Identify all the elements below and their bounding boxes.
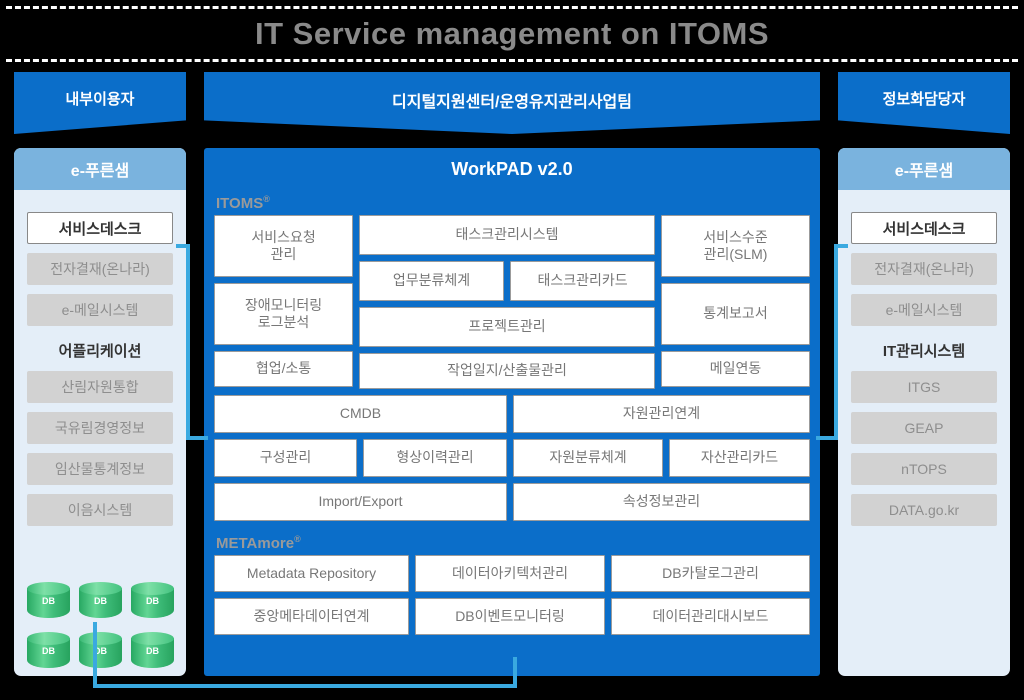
right-item-email-system[interactable]: e-메일시스템 (851, 294, 997, 326)
itoms-upper-block: 서비스요청 관리 장애모니터링 로그분석 협업/소통 태스크관리시스템 업무분류… (214, 215, 810, 389)
metamore-row-2: 중앙메타데이터연계 DB이벤트모니터링 데이터관리대시보드 (214, 598, 810, 635)
db-cylinder-top (27, 582, 70, 595)
cell-collaboration[interactable]: 협업/소통 (214, 351, 353, 387)
cell-project-mgmt[interactable]: 프로젝트관리 (359, 307, 655, 347)
connector-left-vertical (186, 244, 190, 440)
itoms-right-column: 서비스수준 관리(SLM) 통계보고서 메일연동 (661, 215, 810, 389)
right-item-data-go-kr[interactable]: DATA.go.kr (851, 494, 997, 526)
left-panel-body: 서비스데스크 전자결재(온나라) e-메일시스템 어플리케이션 산림자원통합 국… (14, 190, 186, 526)
left-item-ieum-system[interactable]: 이음시스템 (27, 494, 173, 526)
database-icon: DB (79, 632, 122, 672)
cell-attribute-info[interactable]: 속성정보관리 (513, 483, 810, 521)
right-item-geap[interactable]: GEAP (851, 412, 997, 444)
cell-asset-mgmt-card[interactable]: 자산관리카드 (669, 439, 810, 477)
db-icon-label: DB (79, 646, 122, 656)
cell-metadata-repository[interactable]: Metadata Repository (214, 555, 409, 592)
right-item-ntops[interactable]: nTOPS (851, 453, 997, 485)
right-item-itgs[interactable]: ITGS (851, 371, 997, 403)
database-icon: DB (79, 582, 122, 622)
cell-task-mgmt-system[interactable]: 태스크관리시스템 (359, 215, 655, 255)
cell-config-mgmt[interactable]: 구성관리 (214, 439, 357, 477)
left-item-national-forest[interactable]: 국유림경영정보 (27, 412, 173, 444)
database-icon: DB (131, 582, 174, 622)
database-icon: DB (27, 582, 70, 622)
right-group-title-it-management: IT관리시스템 (851, 340, 997, 361)
banner-internal-users: 내부이용자 (14, 72, 186, 134)
left-panel-header: e-푸른샘 (14, 148, 186, 190)
db-icon-label: DB (131, 646, 174, 656)
metamore-row-1: Metadata Repository 데이터아키텍처관리 DB카탈로그관리 (214, 555, 810, 592)
itoms-center-column: 태스크관리시스템 업무분류체계 태스크관리카드 프로젝트관리 작업일지/산출물관… (359, 215, 655, 389)
cell-service-request[interactable]: 서비스요청 관리 (214, 215, 353, 277)
cell-task-mgmt-card[interactable]: 태스크관리카드 (510, 261, 655, 301)
connector-db-horizontal (93, 684, 517, 688)
itoms-sub-row: 구성관리 형상이력관리 자원분류체계 자산관리카드 (214, 439, 810, 477)
cell-resource-classification[interactable]: 자원분류체계 (513, 439, 663, 477)
right-system-panel: e-푸른샘 서비스데스크 전자결재(온나라) e-메일시스템 IT관리시스템 I… (838, 148, 1010, 676)
right-panel-header: e-푸른샘 (838, 148, 1010, 190)
banner-support-center: 디지털지원센터/운영유지관리사업팀 (204, 72, 820, 134)
right-item-e-approval[interactable]: 전자결재(온나라) (851, 253, 997, 285)
cell-config-history[interactable]: 형상이력관리 (363, 439, 507, 477)
itoms-import-row: Import/Export 속성정보관리 (214, 483, 810, 521)
cell-mail-integration[interactable]: 메일연동 (661, 351, 810, 387)
connector-left-bottom-stub (186, 436, 208, 440)
metamore-registered-mark: ® (294, 534, 301, 544)
banner-left-label: 내부이용자 (65, 88, 134, 109)
db-icon-label: DB (79, 596, 122, 606)
page-title-bar: IT Service management on ITOMS (6, 6, 1018, 62)
itoms-center-subrow: 업무분류체계 태스크관리카드 (359, 261, 655, 301)
itoms-section-label: ITOMS® (204, 190, 820, 215)
page-title: IT Service management on ITOMS (255, 16, 769, 52)
db-cylinder-top (131, 632, 174, 645)
itoms-grid: 서비스요청 관리 장애모니터링 로그분석 협업/소통 태스크관리시스템 업무분류… (204, 215, 820, 521)
db-cylinder-top (79, 632, 122, 645)
banner-right-label: 정보화담당자 (883, 88, 966, 109)
cell-resource-link[interactable]: 자원관리연계 (513, 395, 810, 433)
cell-service-level-mgmt[interactable]: 서비스수준 관리(SLM) (661, 215, 810, 277)
database-icon-grid: DB DB DB DB DB DB (27, 582, 175, 672)
right-panel-body: 서비스데스크 전자결재(온나라) e-메일시스템 IT관리시스템 ITGS GE… (838, 190, 1010, 526)
banner-center-label: 디지털지원센터/운영유지관리사업팀 (392, 88, 632, 112)
workpad-main-panel: WorkPAD v2.0 ITOMS® 서비스요청 관리 장애모니터링 로그분석… (204, 148, 820, 676)
cell-central-metadata-link[interactable]: 중앙메타데이터연계 (214, 598, 409, 635)
right-item-service-desk[interactable]: 서비스데스크 (851, 212, 997, 244)
workpad-title: WorkPAD v2.0 (204, 148, 820, 190)
left-item-e-approval[interactable]: 전자결재(온나라) (27, 253, 173, 285)
diagram-root: IT Service management on ITOMS 내부이용자 디지털… (0, 0, 1024, 700)
itoms-left-column: 서비스요청 관리 장애모니터링 로그분석 협업/소통 (214, 215, 353, 389)
cell-data-architecture[interactable]: 데이터아키텍처관리 (415, 555, 605, 592)
cell-data-mgmt-dashboard[interactable]: 데이터관리대시보드 (611, 598, 810, 635)
left-group-title-application: 어플리케이션 (27, 340, 173, 361)
cell-db-event-monitoring[interactable]: DB이벤트모니터링 (415, 598, 605, 635)
connector-db-vertical (93, 622, 97, 688)
banner-it-officer: 정보화담당자 (838, 72, 1010, 134)
left-item-forest-product-stats[interactable]: 임산물통계정보 (27, 453, 173, 485)
left-item-service-desk[interactable]: 서비스데스크 (27, 212, 173, 244)
db-cylinder-top (131, 582, 174, 595)
metamore-grid: Metadata Repository 데이터아키텍처관리 DB카탈로그관리 중… (204, 555, 820, 635)
database-icon: DB (27, 632, 70, 672)
cell-cmdb[interactable]: CMDB (214, 395, 507, 433)
database-icon: DB (131, 632, 174, 672)
itoms-cmdb-row: CMDB 자원관리연계 (214, 395, 810, 433)
cell-import-export[interactable]: Import/Export (214, 483, 507, 521)
left-item-email-system[interactable]: e-메일시스템 (27, 294, 173, 326)
connector-db-riser (513, 657, 517, 688)
itoms-label-text: ITOMS (216, 195, 263, 212)
cell-fault-monitoring[interactable]: 장애모니터링 로그분석 (214, 283, 353, 345)
metamore-label-text: METAmore (216, 535, 294, 552)
connector-right-vertical (834, 244, 838, 440)
left-item-forest-resource[interactable]: 산림자원통합 (27, 371, 173, 403)
cell-work-classification[interactable]: 업무분류체계 (359, 261, 504, 301)
itoms-registered-mark: ® (263, 194, 270, 204)
cell-worklog-deliverables[interactable]: 작업일지/산출물관리 (359, 353, 655, 389)
db-icon-label: DB (27, 646, 70, 656)
db-cylinder-top (27, 632, 70, 645)
connector-right-bottom-stub (816, 436, 838, 440)
cell-statistics-report[interactable]: 통계보고서 (661, 283, 810, 345)
db-cylinder-top (79, 582, 122, 595)
db-icon-label: DB (27, 596, 70, 606)
cell-db-catalog[interactable]: DB카탈로그관리 (611, 555, 810, 592)
metamore-section-label: METAmore® (204, 527, 820, 555)
db-icon-label: DB (131, 596, 174, 606)
